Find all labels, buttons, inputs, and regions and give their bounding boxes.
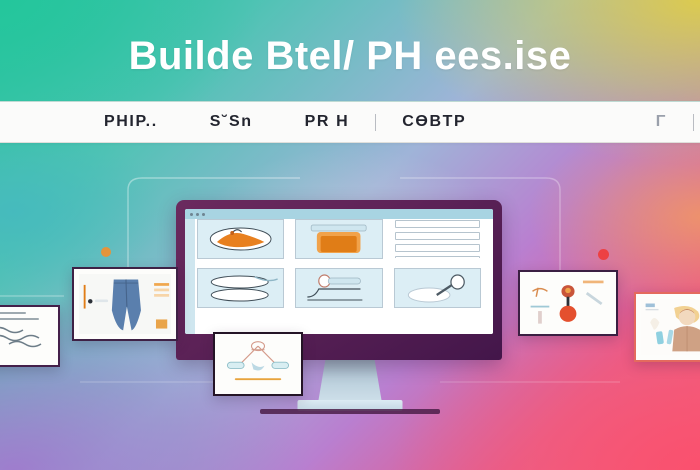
- jeans-icon: [79, 274, 171, 334]
- nav-item-3[interactable]: PR H: [279, 113, 376, 131]
- monitor-neck: [318, 358, 382, 403]
- browser-sidebar-rail: [185, 219, 195, 334]
- accent-dot-orange: [101, 247, 111, 257]
- card-bottom-center[interactable]: [213, 332, 303, 396]
- navigation-bar: PHIP.. S˘Sn PR H CƟBTP Γ: [0, 101, 700, 143]
- nav-separator-2: [693, 114, 694, 131]
- card-far-right[interactable]: [634, 292, 700, 362]
- browser-title-bar: [185, 209, 493, 219]
- content-grid: [197, 219, 481, 308]
- cell-box-product[interactable]: [295, 219, 382, 259]
- cell-chart-widget[interactable]: [295, 268, 382, 308]
- text-line-4: [395, 256, 480, 259]
- accent-dot-red: [598, 249, 609, 260]
- card-jeans-content: [74, 269, 176, 339]
- text-line-1: [395, 220, 480, 228]
- monitor-screen: [185, 209, 493, 334]
- window-dot-close[interactable]: [190, 213, 193, 216]
- person-illustration-icon: [641, 299, 700, 355]
- text-line-2: [395, 232, 480, 240]
- nav-item-5[interactable]: Γ: [630, 113, 693, 131]
- shoe-icon: [198, 220, 283, 258]
- page-title: Builde Btel/ PH ees.ise: [0, 36, 700, 76]
- nav-item-4[interactable]: CƟBTP: [376, 113, 492, 131]
- card-right-tool[interactable]: [518, 270, 618, 336]
- card-bottom-content: [215, 334, 301, 394]
- cell-text-lines[interactable]: [394, 219, 481, 259]
- wave-icon: [198, 269, 283, 307]
- wave-lines-icon: [0, 324, 53, 350]
- cell-wave-graphic[interactable]: [197, 268, 284, 308]
- card-far-left[interactable]: [0, 305, 60, 367]
- pin-dial-icon: [525, 277, 611, 329]
- chart-icon: [296, 269, 381, 307]
- cell-pin-graphic[interactable]: [394, 268, 481, 308]
- monitor-shadow: [260, 409, 440, 414]
- nav-item-2[interactable]: S˘Sn: [184, 113, 279, 131]
- window-dot-maximize[interactable]: [202, 213, 205, 216]
- text-line-3: [395, 244, 480, 252]
- window-dot-minimize[interactable]: [196, 213, 199, 216]
- nav-item-1[interactable]: PHIP..: [78, 113, 184, 131]
- funnel-diagram-icon: [220, 339, 296, 389]
- card-jeans-product[interactable]: [72, 267, 178, 341]
- box-icon: [296, 220, 381, 258]
- poster-canvas: Builde Btel/ PH ees.ise PHIP.. S˘Sn PR H…: [0, 0, 700, 470]
- cell-shoe-photo[interactable]: [197, 219, 284, 259]
- card-far-left-content: [0, 307, 58, 365]
- card-far-right-content: [636, 294, 700, 360]
- pin-icon: [395, 269, 480, 307]
- card-right-content: [520, 272, 616, 334]
